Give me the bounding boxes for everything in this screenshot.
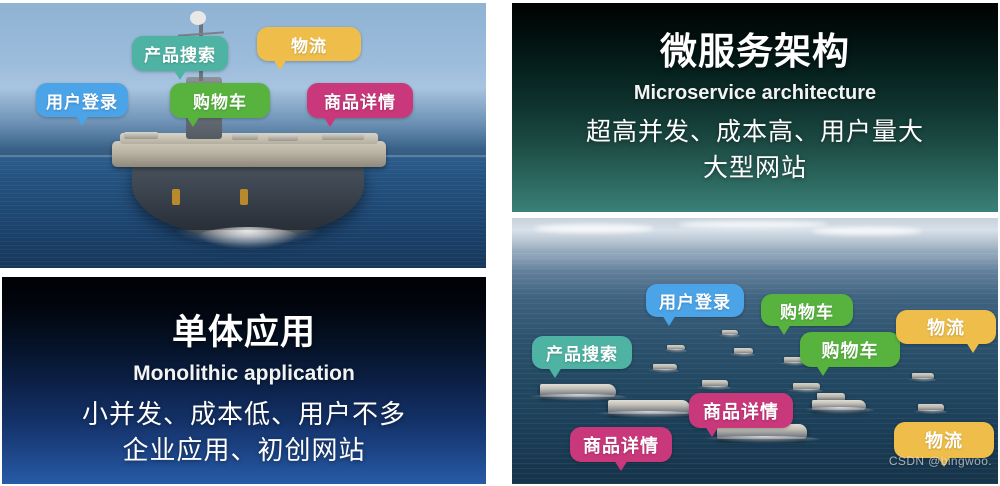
fleet-ship (918, 404, 944, 411)
deck-aircraft (124, 132, 158, 139)
microservice-subtitle-line-2: 大型网站 (512, 151, 998, 185)
tag-label: 商品详情 (703, 398, 779, 424)
panel-microservice-image: 用户登录 产品搜索 购物车 购物车 物流 物流 商品详情 商品详 (512, 218, 998, 484)
deck-aircraft (232, 133, 258, 140)
deck-aircraft (322, 133, 364, 140)
tag-tail-icon (548, 367, 562, 378)
carrier-deck (112, 141, 386, 167)
hull-marking (240, 189, 248, 205)
tag-label: 商品详情 (324, 88, 396, 113)
microservice-en-title: Microservice architecture (512, 81, 998, 105)
fleet-ship (653, 364, 677, 370)
carrier-radome (190, 11, 206, 25)
tag-tail-icon (614, 460, 628, 471)
tag-tail-icon (273, 59, 287, 70)
hull-marking (172, 189, 180, 205)
tag-tail-icon (173, 69, 187, 80)
tag-product-detail[interactable]: 商品详情 (689, 393, 793, 428)
cloud (812, 227, 922, 235)
fleet-ship (734, 348, 753, 354)
tag-label: 用户登录 (46, 88, 118, 113)
microservice-cn-title: 微服务架构 (512, 30, 998, 74)
tag-tail-icon (323, 116, 337, 127)
tag-shopping-cart[interactable]: 购物车 (761, 294, 853, 326)
tag-label: 购物车 (780, 298, 834, 323)
watermark-text: CSDN @bingwoo. (889, 454, 992, 468)
tag-logistics-2[interactable]: 物流 (894, 422, 994, 458)
fleet-ship (667, 345, 685, 350)
tag-logistics[interactable]: 物流 (896, 310, 996, 344)
tag-tail-icon (777, 324, 791, 335)
cloud (534, 224, 654, 233)
fleet-ship (722, 330, 738, 335)
fleet-carrier (608, 400, 690, 414)
deck-aircraft (268, 134, 298, 141)
tag-shopping-cart[interactable]: 购物车 (170, 83, 270, 118)
tag-tail-icon (75, 115, 89, 126)
tag-label: 产品搜索 (546, 340, 618, 365)
tag-label: 商品详情 (583, 432, 659, 458)
tag-tail-icon (816, 365, 830, 376)
panel-microservice-text: 微服务架构 Microservice architecture 超高并发、成本高… (512, 3, 998, 212)
tag-shopping-cart-2[interactable]: 购物车 (800, 332, 900, 367)
tag-label: 用户登录 (659, 288, 731, 313)
cloud (678, 221, 828, 228)
tag-label: 购物车 (822, 337, 879, 363)
monolithic-cn-title: 单体应用 (2, 312, 486, 354)
panel-monolithic-text: 单体应用 Monolithic application 小并发、成本低、用户不多… (2, 277, 486, 484)
tag-label: 物流 (291, 32, 327, 57)
tag-label: 物流 (927, 314, 965, 340)
tag-label: 购物车 (193, 88, 247, 113)
tag-tail-icon (966, 342, 980, 353)
microservice-subtitle-line-1: 超高并发、成本高、用户量大 (512, 115, 998, 149)
tag-logistics[interactable]: 物流 (257, 27, 361, 61)
tag-tail-icon (705, 426, 719, 437)
fleet-carrier (812, 400, 866, 410)
carrier-bow-wake (196, 227, 300, 249)
tag-tail-icon (662, 315, 676, 326)
panel-monolithic-image: 用户登录 产品搜索 物流 购物车 商品详情 (0, 3, 486, 268)
monolithic-en-title: Monolithic application (2, 361, 486, 386)
tag-product-detail-2[interactable]: 商品详情 (570, 427, 672, 462)
fleet-ship (702, 380, 728, 387)
tag-label: 物流 (925, 427, 963, 453)
tag-user-login[interactable]: 用户登录 (36, 83, 128, 117)
monolithic-subtitle-line-1: 小并发、成本低、用户不多 (2, 397, 486, 433)
tag-product-search[interactable]: 产品搜索 (532, 336, 632, 369)
fleet-ship (912, 373, 934, 379)
fleet-ship (793, 383, 820, 390)
fleet-carrier (540, 384, 616, 397)
tag-label: 产品搜索 (144, 41, 216, 66)
slide-canvas: 用户登录 产品搜索 物流 购物车 商品详情 单体应用 Monolithic ap… (0, 0, 1000, 486)
tag-tail-icon (186, 116, 200, 127)
monolithic-subtitle-line-2: 企业应用、初创网站 (2, 433, 486, 469)
tag-product-search[interactable]: 产品搜索 (132, 36, 228, 71)
tag-user-login[interactable]: 用户登录 (646, 284, 744, 317)
tag-product-detail[interactable]: 商品详情 (307, 83, 413, 118)
